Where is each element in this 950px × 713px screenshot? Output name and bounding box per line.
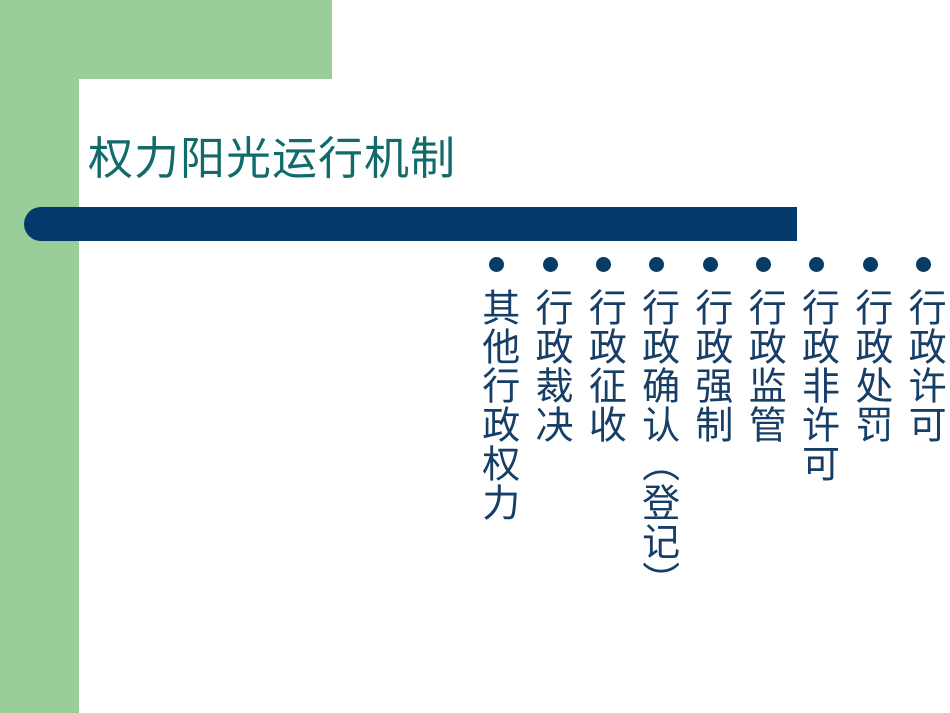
- list-item-label: 行政确认（登记）: [637, 288, 677, 600]
- list-item-label: 其他行政权力: [477, 288, 517, 522]
- list-item[interactable]: 行政非许可: [790, 253, 843, 483]
- presentation-slide: 权力阳光运行机制 行政许可 行政处罚 行政非许可 行政监管 行政强制 行政确认（…: [0, 0, 950, 713]
- list-item-label: 行政处罚: [850, 288, 890, 444]
- list-item[interactable]: 行政确认（登记）: [630, 253, 683, 600]
- list-item-label: 行政监管: [744, 288, 784, 444]
- list-item-label: 行政非许可: [797, 288, 837, 483]
- list-item-label: 行政强制: [690, 288, 730, 444]
- bullet-dot-icon: [489, 257, 504, 272]
- bullet-dot-icon: [809, 257, 824, 272]
- title-accent-bar: [24, 207, 797, 241]
- list-item[interactable]: 行政强制: [684, 253, 737, 444]
- bullet-dot-icon: [916, 257, 931, 272]
- page-title: 权力阳光运行机制: [88, 128, 788, 190]
- list-item-label: 行政征收: [584, 288, 624, 444]
- decorative-green-sidebar: [0, 79, 79, 713]
- decorative-green-block-top: [0, 0, 332, 79]
- list-item[interactable]: 行政裁决: [524, 253, 577, 444]
- bullet-dot-icon: [543, 257, 558, 272]
- bullet-column-list: 行政许可 行政处罚 行政非许可 行政监管 行政强制 行政确认（登记） 行政征收: [399, 253, 950, 653]
- bullet-dot-icon: [756, 257, 771, 272]
- list-item-label: 行政许可: [904, 288, 944, 444]
- list-item[interactable]: 行政监管: [737, 253, 790, 444]
- bullet-dot-icon: [703, 257, 718, 272]
- list-item[interactable]: 行政处罚: [843, 253, 896, 444]
- list-item[interactable]: 其他行政权力: [470, 253, 523, 522]
- bullet-dot-icon: [863, 257, 878, 272]
- bullet-dot-icon: [649, 257, 664, 272]
- list-item[interactable]: 行政许可: [897, 253, 950, 444]
- bullet-dot-icon: [596, 257, 611, 272]
- list-item-label: 行政裁决: [531, 288, 571, 444]
- list-item[interactable]: 行政征收: [577, 253, 630, 444]
